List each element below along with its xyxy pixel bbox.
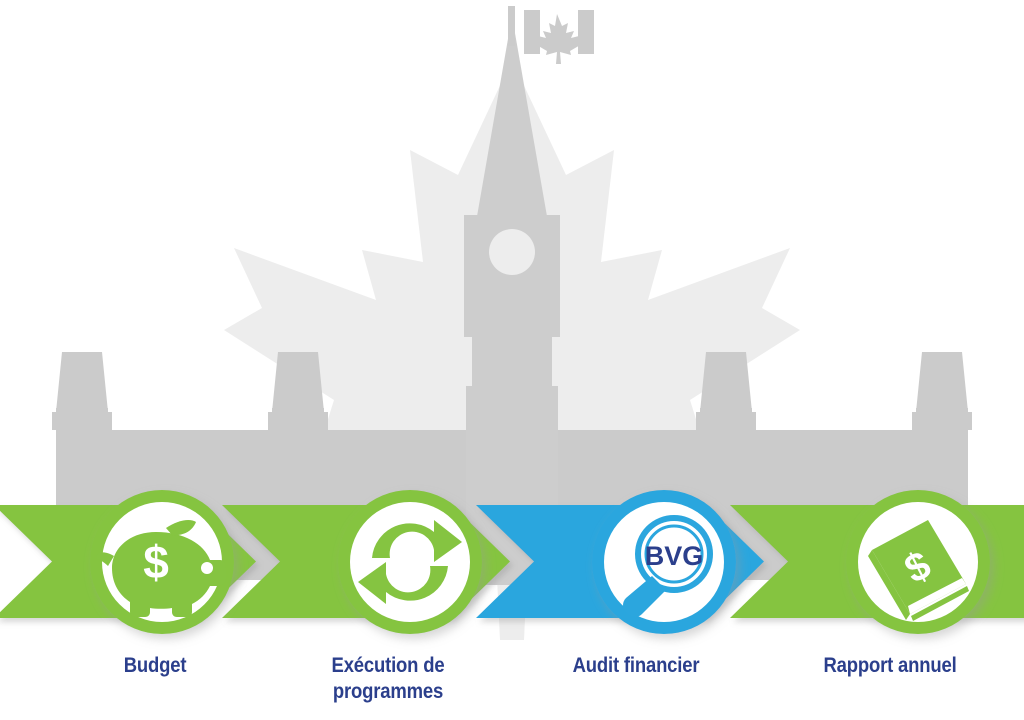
flag-group: [508, 6, 594, 64]
svg-text:$: $: [143, 536, 169, 588]
step-label-rapport: Rapport annuel: [795, 653, 985, 679]
flag-band-left: [524, 10, 540, 54]
infographic-canvas: $ BVG $: [0, 0, 1024, 720]
step-label-execution: Exécution de programmes: [302, 653, 474, 705]
flagpole: [508, 6, 515, 46]
step-circle-execution[interactable]: [338, 490, 482, 634]
clock-face: [489, 229, 535, 275]
canadian-flag-maple-leaf: [534, 14, 583, 64]
step-label-audit: Audit financier: [550, 653, 722, 679]
magnifier-bvg-text: BVG: [645, 541, 704, 571]
step-label-budget: Budget: [71, 653, 238, 679]
peace-tower: [464, 16, 560, 585]
flag-band-right: [578, 10, 594, 54]
